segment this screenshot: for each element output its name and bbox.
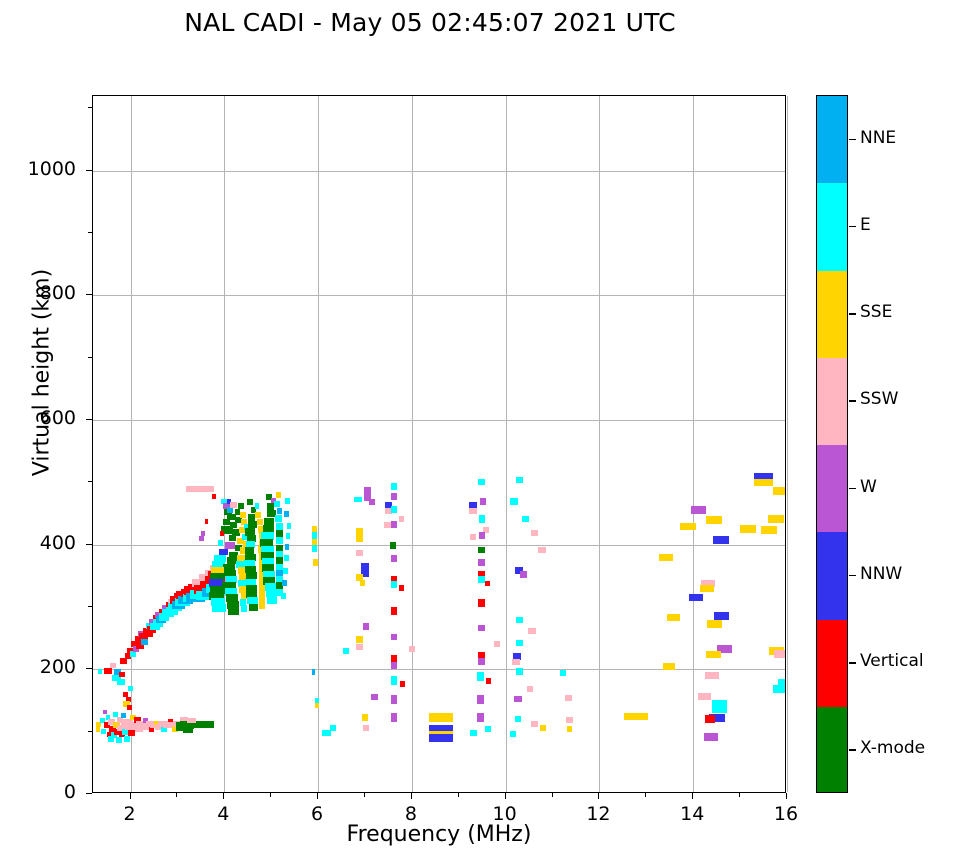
colorbar-label: E — [860, 215, 871, 235]
echo-mark — [360, 580, 365, 586]
echo-mark — [343, 648, 350, 654]
echo-mark — [391, 493, 398, 500]
echo-mark — [267, 596, 276, 604]
x-tick — [786, 793, 787, 799]
echo-mark — [391, 695, 398, 704]
echo-mark — [478, 559, 485, 566]
y-minor-tick — [88, 606, 92, 607]
x-minor-tick — [739, 793, 740, 797]
echo-mark — [371, 694, 378, 700]
colorbar-tick — [849, 226, 856, 228]
echo-mark — [691, 506, 706, 514]
echo-mark — [704, 733, 717, 741]
echo-mark — [285, 498, 290, 504]
colorbar-tick — [849, 575, 856, 577]
echo-mark — [391, 521, 398, 528]
echo-mark — [186, 486, 214, 492]
echo-mark — [187, 718, 196, 723]
colorbar-label: Vertical — [860, 651, 924, 671]
echo-mark — [478, 576, 485, 583]
echo-mark — [706, 516, 722, 524]
echo-mark — [284, 511, 289, 517]
echo-mark — [249, 604, 258, 611]
x-tick — [505, 793, 506, 799]
colorbar-label: NNW — [860, 564, 902, 584]
colorbar-segment — [817, 271, 847, 358]
echo-mark — [480, 498, 487, 505]
echo-mark — [494, 641, 500, 647]
echo-mark — [362, 714, 369, 721]
echo-mark — [205, 519, 209, 524]
echo-mark — [774, 650, 785, 658]
echo-mark — [199, 536, 204, 541]
echo-mark — [485, 581, 490, 586]
y-tick — [86, 793, 92, 794]
ionogram-page: NAL CADI - May 05 02:45:07 2021 UTC 2468… — [0, 0, 958, 857]
echo-mark — [121, 713, 126, 718]
echo-mark — [369, 499, 376, 505]
echo-mark — [400, 681, 405, 687]
echo-mark — [124, 736, 130, 742]
echo-mark — [220, 531, 225, 536]
echo-mark — [276, 523, 283, 530]
echo-mark — [391, 713, 398, 722]
echo-mark — [364, 487, 372, 493]
echo-mark — [117, 679, 125, 685]
echo-mark — [104, 668, 112, 674]
echo-mark — [264, 518, 274, 525]
echo-mark — [276, 492, 281, 498]
echo-mark — [470, 730, 477, 736]
colorbar — [816, 95, 848, 793]
echo-mark — [705, 715, 714, 723]
echo-mark — [391, 676, 398, 685]
echo-mark — [248, 514, 256, 521]
x-minor-tick — [176, 793, 177, 797]
echo-mark — [259, 602, 265, 609]
y-minor-tick — [88, 731, 92, 732]
echo-mark — [478, 479, 485, 485]
echo-mark — [212, 604, 226, 612]
y-tick — [86, 170, 92, 171]
echo-mark — [110, 663, 116, 668]
echo-mark — [706, 651, 721, 658]
echo-mark — [312, 545, 317, 552]
y-minor-tick — [88, 357, 92, 358]
echo-mark — [531, 530, 538, 536]
echo-mark — [282, 580, 287, 586]
echo-mark — [409, 646, 415, 652]
echo-mark — [247, 499, 253, 505]
echo-mark — [479, 515, 486, 523]
echo-mark — [773, 685, 785, 693]
echo-mark — [391, 581, 398, 588]
echo-mark — [313, 559, 318, 566]
colorbar-label: NNE — [860, 128, 896, 148]
echo-mark — [713, 536, 729, 544]
y-tick — [86, 544, 92, 545]
echo-mark — [659, 554, 673, 561]
page-title: NAL CADI - May 05 02:45:07 2021 UTC — [0, 8, 860, 37]
echo-mark — [399, 585, 404, 591]
echo-mark — [223, 519, 231, 525]
echo-mark — [218, 540, 224, 546]
echo-mark — [486, 678, 491, 684]
echo-mark — [663, 663, 675, 670]
colorbar-segment — [817, 96, 847, 183]
echo-mark — [241, 605, 248, 612]
echo-mark — [363, 725, 370, 731]
echo-mark — [768, 515, 784, 523]
echo-mark — [478, 625, 485, 631]
echo-mark — [477, 695, 485, 704]
y-tick — [86, 419, 92, 420]
y-axis-label: Virtual height (km) — [30, 223, 55, 523]
echo-mark — [255, 512, 261, 518]
echo-mark — [391, 555, 398, 562]
y-minor-tick — [88, 481, 92, 482]
echo-mark — [384, 522, 391, 528]
echo-mark — [391, 506, 398, 513]
colorbar-segment — [817, 707, 847, 793]
colorbar-tick — [849, 313, 856, 315]
echo-mark — [141, 639, 149, 645]
y-tick-label: 1000 — [6, 158, 76, 180]
echo-mark — [127, 705, 132, 710]
echo-mark — [330, 725, 337, 731]
echo-mark — [119, 672, 125, 677]
echo-mark — [477, 672, 485, 681]
echo-mark — [356, 550, 364, 556]
echo-mark — [773, 487, 785, 495]
echo-mark — [286, 533, 291, 539]
echo-mark — [276, 530, 283, 537]
echo-mark — [740, 525, 756, 533]
echo-mark — [531, 721, 538, 727]
x-tick — [411, 793, 412, 799]
echo-mark — [212, 494, 217, 499]
echo-mark — [275, 515, 282, 522]
echo-mark — [516, 477, 524, 483]
x-minor-tick — [645, 793, 646, 797]
echo-mark — [520, 571, 527, 578]
y-tick — [86, 668, 92, 669]
echo-mark — [522, 516, 530, 522]
echo-mark — [248, 521, 256, 528]
x-tick — [223, 793, 224, 799]
colorbar-tick — [849, 662, 856, 664]
echo-mark — [391, 634, 398, 640]
echo-mark — [624, 713, 647, 720]
echo-mark — [274, 501, 280, 507]
x-tick — [598, 793, 599, 799]
echo-mark — [255, 503, 260, 509]
echo-mark — [356, 644, 363, 650]
x-minor-tick — [270, 793, 271, 797]
echo-mark — [477, 713, 485, 722]
x-tick — [692, 793, 693, 799]
echo-mark — [315, 703, 319, 708]
echo-mark — [277, 508, 283, 514]
echo-mark — [516, 640, 523, 646]
y-tick-label: 200 — [6, 656, 76, 678]
echo-mark — [128, 686, 134, 691]
echo-mark — [479, 532, 486, 539]
echo-mark — [238, 503, 244, 509]
x-tick — [130, 793, 131, 799]
echo-mark — [96, 727, 100, 732]
echo-mark — [287, 523, 292, 529]
echo-mark — [515, 716, 522, 722]
echo-mark — [698, 693, 711, 700]
colorbar-tick — [849, 749, 856, 751]
echo-mark — [183, 727, 193, 733]
echo-mark — [478, 658, 485, 665]
echo-mark — [356, 636, 363, 643]
echo-mark — [567, 726, 572, 732]
y-minor-tick — [88, 107, 92, 108]
echo-mark — [229, 535, 237, 541]
colorbar-segment — [817, 183, 847, 270]
echo-mark — [101, 729, 106, 734]
echo-mark — [391, 662, 398, 669]
echo-mark — [281, 593, 286, 599]
echo-mark — [285, 544, 290, 550]
gridline-vertical — [787, 96, 788, 792]
echo-mark — [103, 710, 107, 714]
colorbar-label: SSW — [860, 389, 898, 409]
echo-mark — [700, 585, 714, 592]
y-minor-tick — [88, 232, 92, 233]
colorbar-segment — [817, 358, 847, 445]
colorbar-segment — [817, 445, 847, 532]
echo-mark — [228, 607, 239, 615]
echo-mark — [469, 508, 477, 514]
echo-mark — [470, 534, 477, 540]
y-tick-label: 400 — [6, 532, 76, 554]
echo-mark — [566, 717, 574, 723]
y-tick — [86, 294, 92, 295]
colorbar-segment — [817, 532, 847, 619]
echo-mark — [680, 523, 696, 530]
echo-mark — [391, 607, 398, 615]
echo-mark — [354, 497, 362, 502]
echo-mark — [667, 614, 680, 621]
echo-mark — [429, 734, 452, 742]
colorbar-tick — [849, 139, 856, 141]
colorbar-label: W — [860, 477, 877, 497]
echo-mark — [538, 547, 546, 553]
echo-mark — [714, 612, 729, 620]
echo-mark — [761, 526, 777, 534]
x-axis-label: Frequency (MHz) — [92, 822, 786, 847]
echo-mark — [267, 503, 275, 510]
echo-mark — [390, 542, 397, 549]
echo-mark — [312, 669, 316, 675]
echo-mark — [240, 512, 247, 518]
echo-mark — [98, 669, 103, 674]
echo-mark — [707, 620, 722, 628]
colorbar-segment — [817, 620, 847, 707]
echo-mark — [712, 705, 728, 713]
echo-mark — [516, 668, 524, 675]
echo-mark — [478, 599, 485, 607]
echo-mark — [689, 594, 703, 601]
colorbar-tick — [849, 488, 856, 490]
echo-mark — [276, 537, 283, 544]
echo-mark — [560, 670, 567, 676]
colorbar-label: SSE — [860, 302, 892, 322]
echo-mark — [113, 712, 118, 717]
echo-mark — [283, 568, 288, 574]
echo-mark — [485, 726, 492, 732]
echo-mark — [363, 623, 370, 630]
echo-mark — [510, 731, 517, 737]
x-minor-tick — [364, 793, 365, 797]
echo-mark — [201, 531, 205, 536]
echo-mark — [540, 725, 546, 731]
echo-mark — [356, 535, 364, 542]
colorbar-tick — [849, 400, 856, 402]
echo-mark — [128, 730, 135, 736]
echo-data-layer — [93, 96, 785, 792]
echo-mark — [514, 696, 522, 702]
echo-mark — [429, 713, 452, 722]
echo-mark — [478, 547, 486, 553]
plot-area — [92, 95, 786, 793]
x-tick — [317, 793, 318, 799]
colorbar-label: X-mode — [860, 738, 925, 758]
echo-mark — [565, 695, 572, 701]
echo-mark — [754, 479, 773, 486]
x-minor-tick — [458, 793, 459, 797]
echo-mark — [391, 483, 398, 490]
echo-mark — [512, 659, 520, 665]
echo-mark — [284, 555, 289, 561]
echo-mark — [527, 686, 534, 692]
echo-mark — [399, 516, 405, 522]
echo-mark — [528, 628, 536, 634]
echo-mark — [516, 617, 523, 623]
echo-mark — [356, 528, 364, 535]
echo-mark — [510, 498, 518, 505]
echo-mark — [705, 672, 719, 679]
y-tick-label: 0 — [6, 781, 76, 803]
echo-mark — [116, 737, 122, 743]
echo-mark — [230, 502, 237, 508]
x-minor-tick — [552, 793, 553, 797]
